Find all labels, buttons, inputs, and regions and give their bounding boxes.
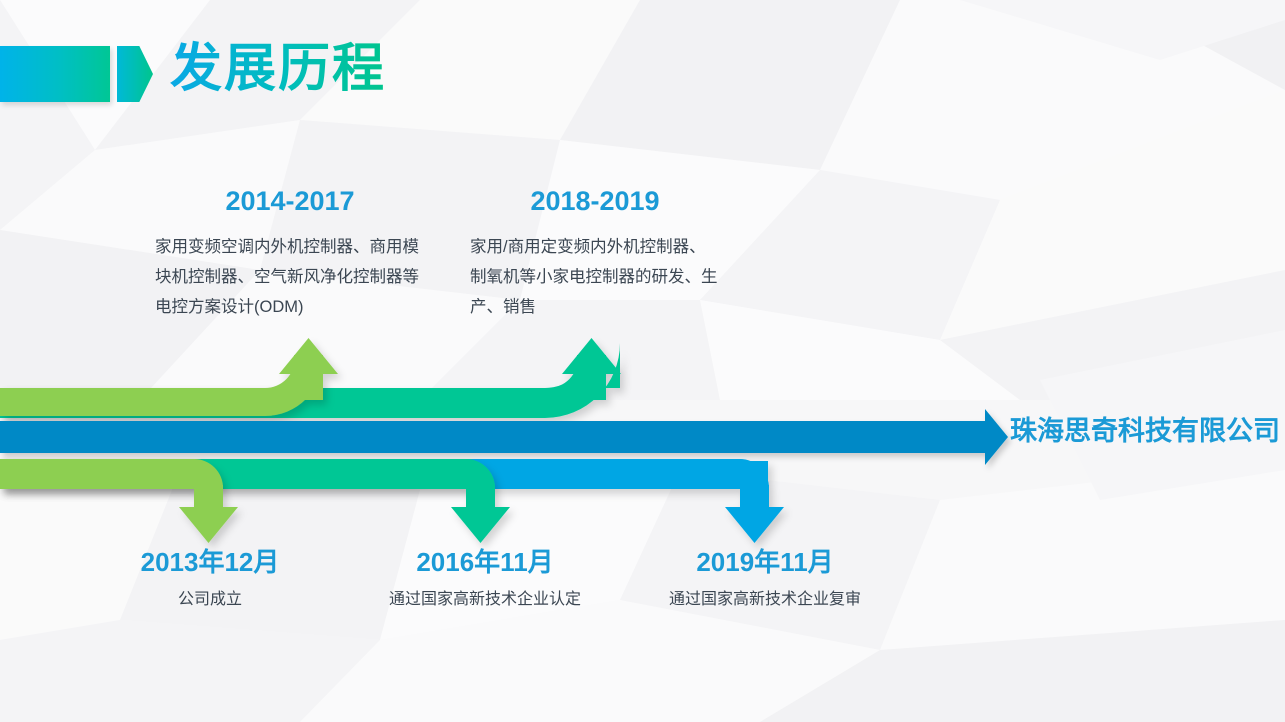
milestone-description: 通过国家高新技术企业认定 <box>365 588 605 612</box>
milestone-below-1: 2013年12月 公司成立 <box>90 545 330 612</box>
timeline-branch-down-1 <box>0 459 238 543</box>
banner-bar <box>0 46 110 102</box>
page-title: 发展历程 <box>170 38 386 100</box>
chevron-right-icon <box>117 46 153 102</box>
milestone-year: 2013年12月 <box>90 545 330 579</box>
header-banner <box>0 46 152 102</box>
milestone-below-2: 2016年11月 通过国家高新技术企业认定 <box>365 545 605 612</box>
slide-canvas: 发展历程 <box>0 0 1285 722</box>
milestone-description: 公司成立 <box>90 588 330 612</box>
milestone-description: 家用/商用定变频内外机控制器、制氧机等小家电控制器的研发、生产、销售 <box>470 232 720 322</box>
milestone-above-2: 2018-2019 家用/商用定变频内外机控制器、制氧机等小家电控制器的研发、生… <box>470 184 720 322</box>
milestone-year: 2018-2019 <box>470 184 720 218</box>
timeline-branch-up-1 <box>0 338 338 416</box>
milestone-description: 家用变频空调内外机控制器、商用模块机控制器、空气新风净化控制器等电控方案设计(O… <box>155 232 425 322</box>
milestone-year: 2019年11月 <box>645 545 885 579</box>
milestone-below-3: 2019年11月 通过国家高新技术企业复审 <box>645 545 885 612</box>
timeline-graphic <box>0 0 1285 722</box>
milestone-above-1: 2014-2017 家用变频空调内外机控制器、商用模块机控制器、空气新风净化控制… <box>155 184 425 322</box>
milestone-year: 2014-2017 <box>155 184 425 218</box>
milestone-description: 通过国家高新技术企业复审 <box>645 588 885 612</box>
milestone-year: 2016年11月 <box>365 545 605 579</box>
company-name: 珠海思奇科技有限公司 <box>1010 413 1280 449</box>
